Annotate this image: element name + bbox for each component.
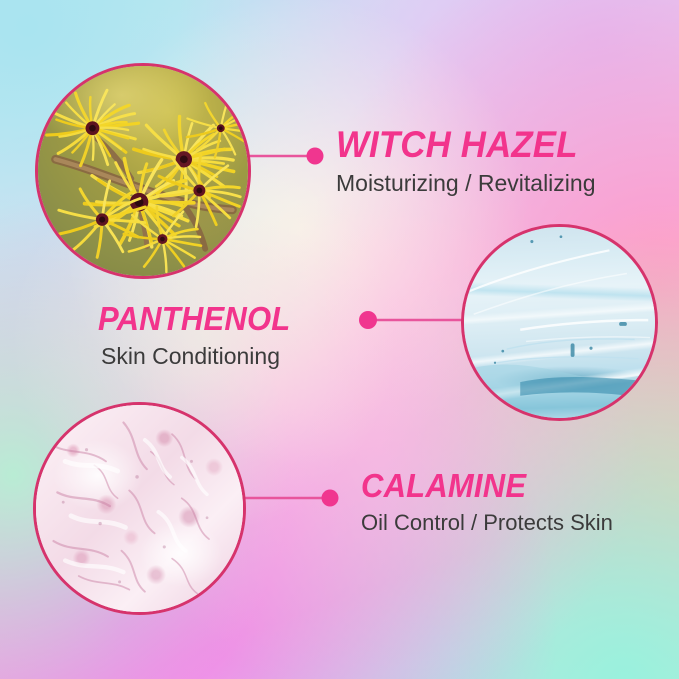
calamine-powder-photo <box>33 402 246 615</box>
ingredient-title-panthenol: PANTHENOL <box>98 302 290 336</box>
infographic-poster: WITCH HAZEL Moisturizing / Revitalizing … <box>0 0 679 679</box>
connector-dot-calamine <box>322 490 339 507</box>
ingredient-subtitle-calamine: Oil Control / Protects Skin <box>361 510 613 535</box>
connector-dot-witch-hazel <box>307 148 324 165</box>
ingredient-label-calamine: CALAMINE Oil Control / Protects Skin <box>361 469 613 535</box>
connector-dot-panthenol <box>359 311 377 329</box>
gel-bubbles <box>464 227 655 418</box>
ingredient-title-witch-hazel: WITCH HAZEL <box>336 126 580 164</box>
ingredient-subtitle-panthenol: Skin Conditioning <box>101 343 303 369</box>
ingredient-subtitle-witch-hazel: Moisturizing / Revitalizing <box>336 170 595 196</box>
ingredient-label-witch-hazel: WITCH HAZEL Moisturizing / Revitalizing <box>336 126 595 196</box>
ingredient-title-calamine: CALAMINE <box>361 469 598 503</box>
witch-hazel-photo <box>35 63 251 279</box>
ingredient-label-panthenol: PANTHENOL Skin Conditioning <box>98 302 303 369</box>
panthenol-gel-photo <box>461 224 658 421</box>
calamine-fibres <box>36 405 243 612</box>
witch-hazel-flowers <box>38 66 248 276</box>
